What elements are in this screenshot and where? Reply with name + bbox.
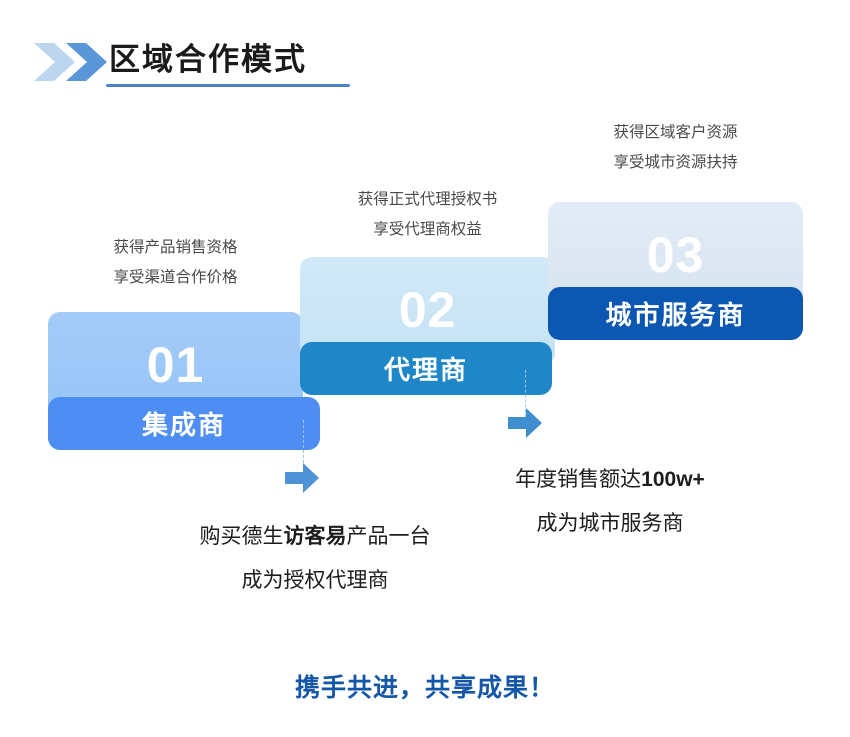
step-03-benefit-1: 获得区域客户资源 bbox=[548, 118, 803, 148]
note-1-line-1-post: 产品一台 bbox=[347, 525, 431, 548]
note-1-line-1-strong: 访客易 bbox=[284, 525, 347, 548]
step-03-number: 03 bbox=[548, 230, 803, 280]
step-01-benefits: 获得产品销售资格 享受渠道合作价格 bbox=[48, 233, 303, 293]
step-01-number: 01 bbox=[48, 340, 303, 390]
note-1-line-1: 购买德生访客易产品一台 bbox=[145, 515, 485, 559]
note-2-line-1: 年度销售额达100w+ bbox=[450, 458, 770, 502]
step-01-benefit-2: 享受渠道合作价格 bbox=[48, 263, 303, 293]
steps-section: 获得产品销售资格 享受渠道合作价格 01 集成商 获得正式代理授权书 享受代理商… bbox=[0, 0, 850, 737]
note-1-line-1-pre: 购买德生 bbox=[200, 525, 284, 548]
flow-arrow-2 bbox=[508, 408, 542, 438]
step-01-benefit-1: 获得产品销售资格 bbox=[48, 233, 303, 263]
step-02-benefits: 获得正式代理授权书 享受代理商权益 bbox=[300, 185, 555, 245]
note-1: 购买德生访客易产品一台 成为授权代理商 bbox=[145, 515, 485, 603]
step-03-label[interactable]: 城市服务商 bbox=[548, 287, 803, 340]
step-01-label[interactable]: 集成商 bbox=[48, 397, 320, 450]
step-02-label[interactable]: 代理商 bbox=[300, 342, 552, 395]
note-2-line-1-pre: 年度销售额达 bbox=[515, 468, 641, 491]
flow-arrow-1 bbox=[285, 463, 319, 493]
step-02-benefit-1: 获得正式代理授权书 bbox=[300, 185, 555, 215]
note-2-line-2: 成为城市服务商 bbox=[450, 502, 770, 546]
step-03-benefit-2: 享受城市资源扶持 bbox=[548, 148, 803, 178]
footer-slogan: 携手共进，共享成果！ bbox=[0, 668, 850, 704]
step-03-benefits: 获得区域客户资源 享受城市资源扶持 bbox=[548, 118, 803, 178]
note-1-line-2: 成为授权代理商 bbox=[145, 559, 485, 603]
step-02-benefit-2: 享受代理商权益 bbox=[300, 215, 555, 245]
note-2: 年度销售额达100w+ 成为城市服务商 bbox=[450, 458, 770, 546]
step-02-number: 02 bbox=[300, 285, 555, 335]
note-2-line-1-strong: 100w+ bbox=[641, 468, 705, 491]
